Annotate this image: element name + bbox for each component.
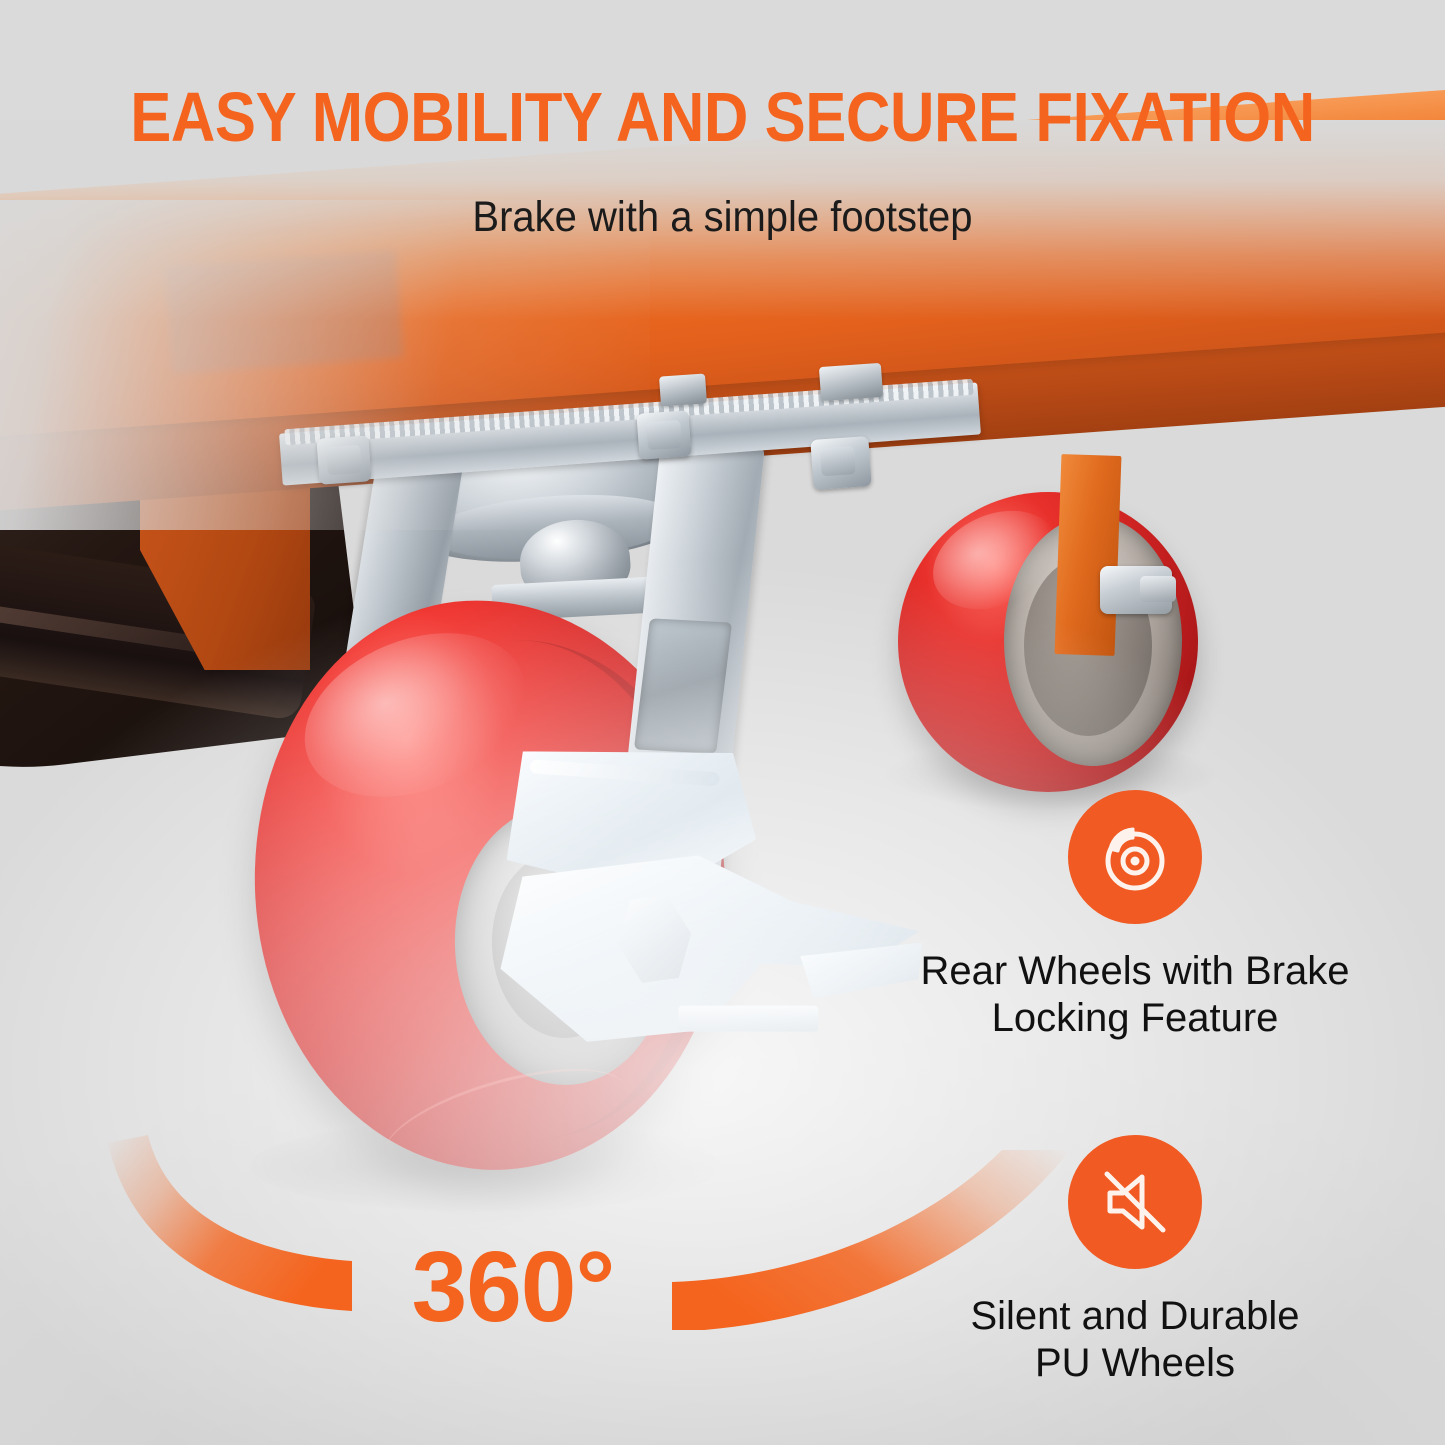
caster-fork-window: [634, 618, 732, 753]
feature-caption: Rear Wheels with Brake Locking Feature: [905, 948, 1365, 1042]
feature-silent-pu-wheels: Silent and Durable PU Wheels: [905, 1135, 1365, 1387]
feature-caption: Silent and Durable PU Wheels: [905, 1293, 1365, 1387]
product-feature-graphic: EASY MOBILITY AND SECURE FIXATION Brake …: [0, 0, 1445, 1445]
deck-stud: [819, 363, 883, 401]
deck-surface-panel: [164, 250, 403, 374]
mounting-bolt: [810, 436, 871, 490]
feature-rear-wheels-brake: Rear Wheels with Brake Locking Feature: [905, 790, 1365, 1042]
disc-brake-icon: [1093, 815, 1177, 899]
feature-badge: [1068, 790, 1202, 924]
mounting-bolt: [636, 410, 691, 460]
mounting-bolt: [316, 435, 371, 485]
brake-rib: [529, 759, 720, 786]
rear-wheel-fork: [1055, 454, 1122, 656]
mute-speaker-icon: [1093, 1160, 1177, 1244]
page-subtitle: Brake with a simple footstep: [51, 193, 1395, 242]
brake-foot-tab: [678, 1006, 818, 1032]
brake-pedal-lever: [493, 738, 923, 1052]
swivel-degree-label: 360°: [388, 1237, 638, 1337]
rear-axle-bolt: [1100, 566, 1172, 614]
deck-stud: [659, 373, 707, 406]
page-title: EASY MOBILITY AND SECURE FIXATION: [87, 82, 1359, 152]
feature-badge: [1068, 1135, 1202, 1269]
